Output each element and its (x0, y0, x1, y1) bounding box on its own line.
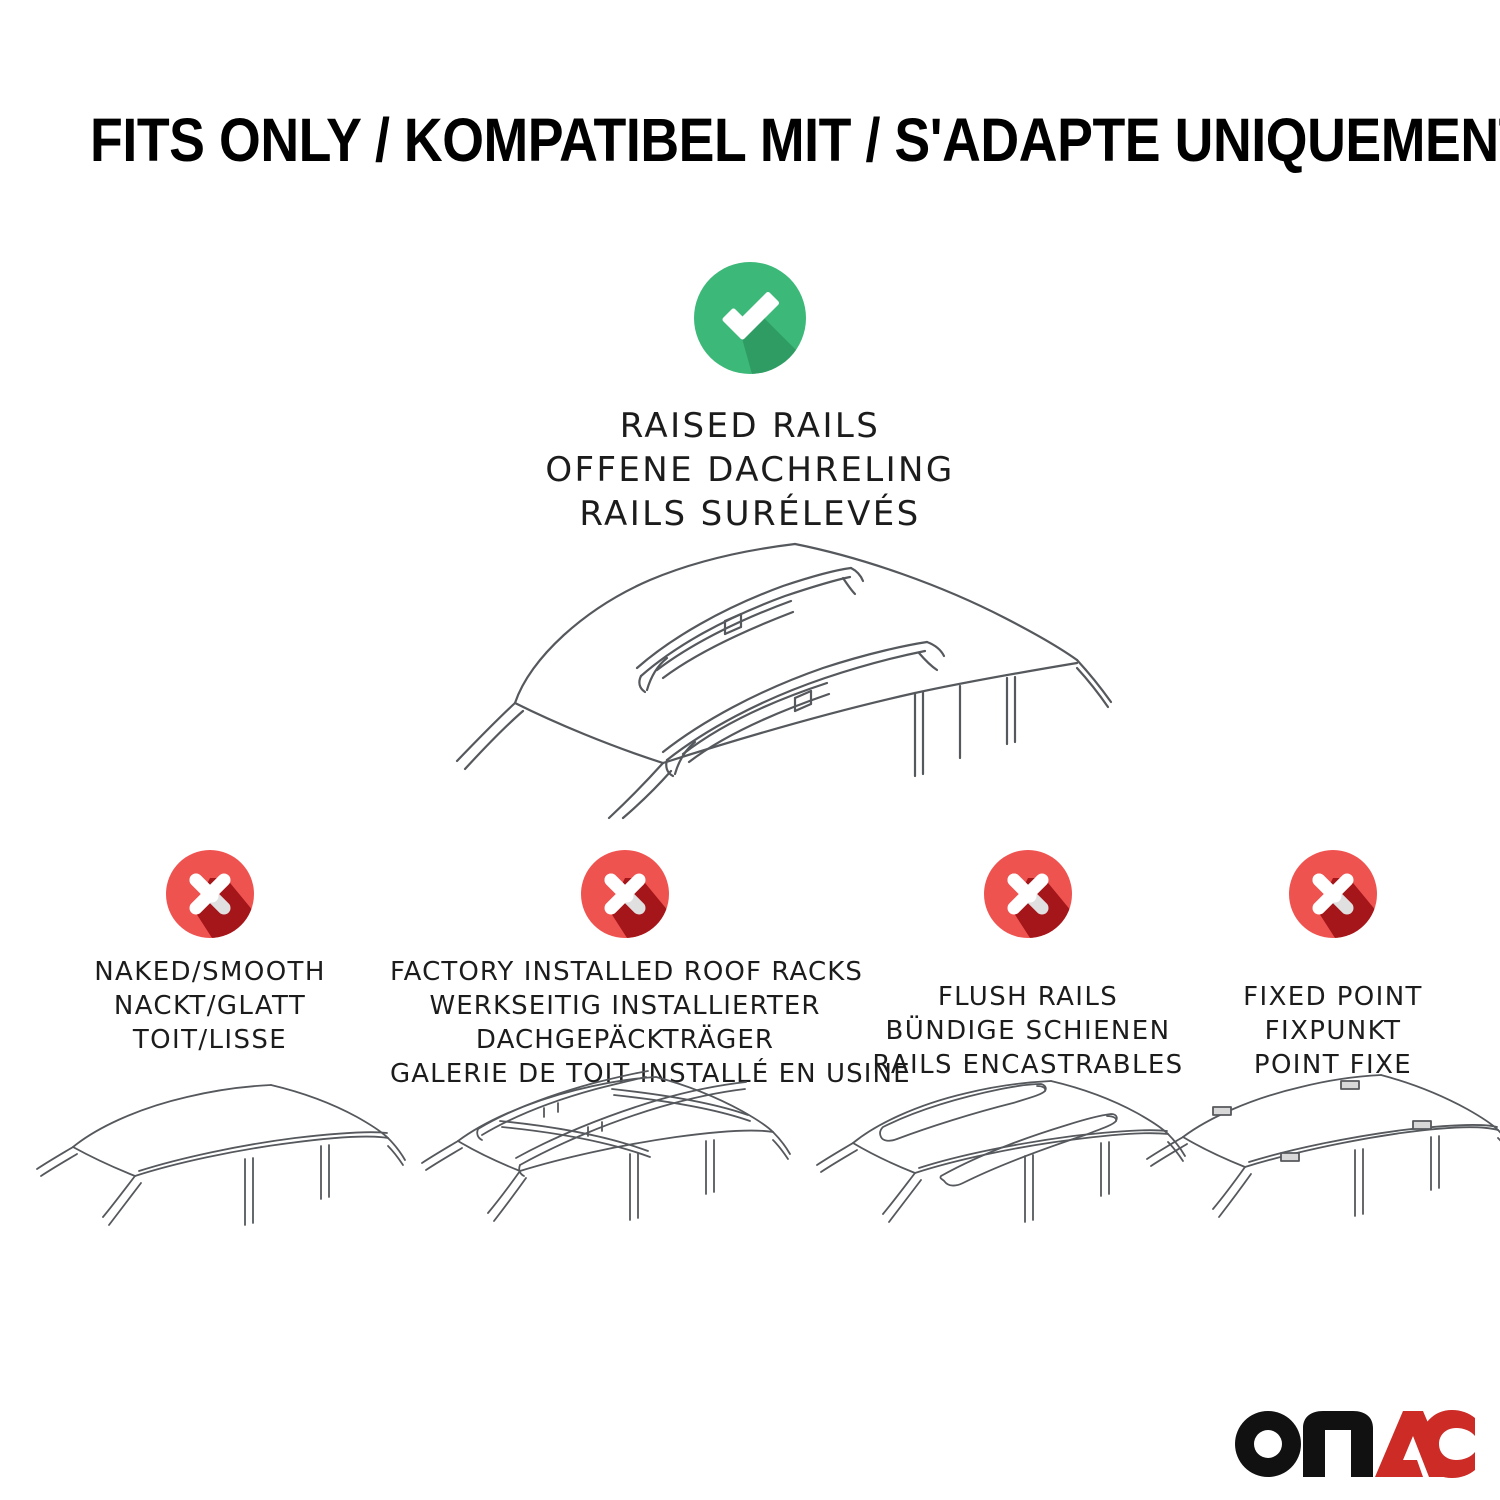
cross-circle-icon (984, 850, 1072, 938)
incompatible-label-line-1: NAKED/SMOOTH (10, 955, 410, 989)
omac-logo (1233, 1408, 1475, 1480)
incompatible-item-factory-racks: FACTORY INSTALLED ROOF RACKS WERKSEITIG … (390, 850, 860, 1091)
compatible-label-line-1: RAISED RAILS (0, 404, 1500, 448)
incompatible-label-line-2: NACKT/GLATT (10, 989, 410, 1023)
compatible-label-line-2: OFFENE DACHRELING (0, 448, 1500, 492)
cross-circle-icon (1289, 850, 1377, 938)
roof-with-raised-rails-illustration (395, 508, 1115, 818)
roof-fixed-point-illustration (1145, 1065, 1500, 1300)
incompatible-label: NAKED/SMOOTH NACKT/GLATT TOIT/LISSE (10, 955, 410, 1057)
incompatible-label-line-2: FIXPUNKT (1155, 1014, 1500, 1048)
cross-circle-icon (166, 850, 254, 938)
incompatible-label-line-1: FIXED POINT (1155, 980, 1500, 1014)
roof-factory-installed-racks-illustration (420, 1065, 810, 1300)
incompatible-item-naked-smooth: NAKED/SMOOTH NACKT/GLATT TOIT/LISSE (10, 850, 410, 1057)
incompatible-section: NAKED/SMOOTH NACKT/GLATT TOIT/LISSE FACT (0, 850, 1500, 1080)
cross-circle-icon (581, 850, 669, 938)
incompatible-label-line-1: FACTORY INSTALLED ROOF RACKS (390, 955, 860, 989)
incompatible-item-fixed-point: FIXED POINT FIXPUNKT POINT FIXE (1155, 850, 1500, 1082)
incompatible-label-line-2: WERKSEITIG INSTALLIERTER (390, 989, 860, 1023)
incompatible-illustrations-row (0, 1065, 1500, 1300)
check-circle-icon (694, 262, 806, 374)
compatible-section: RAISED RAILS OFFENE DACHRELING RAILS SUR… (0, 262, 1500, 536)
roof-naked-smooth-illustration (35, 1065, 425, 1300)
incompatible-label-line-3: DACHGEPÄCKTRÄGER (390, 1023, 860, 1057)
incompatible-label-line-3: TOIT/LISSE (10, 1023, 410, 1057)
page-title: FITS ONLY / KOMPATIBEL MIT / S'ADAPTE UN… (90, 104, 1410, 176)
